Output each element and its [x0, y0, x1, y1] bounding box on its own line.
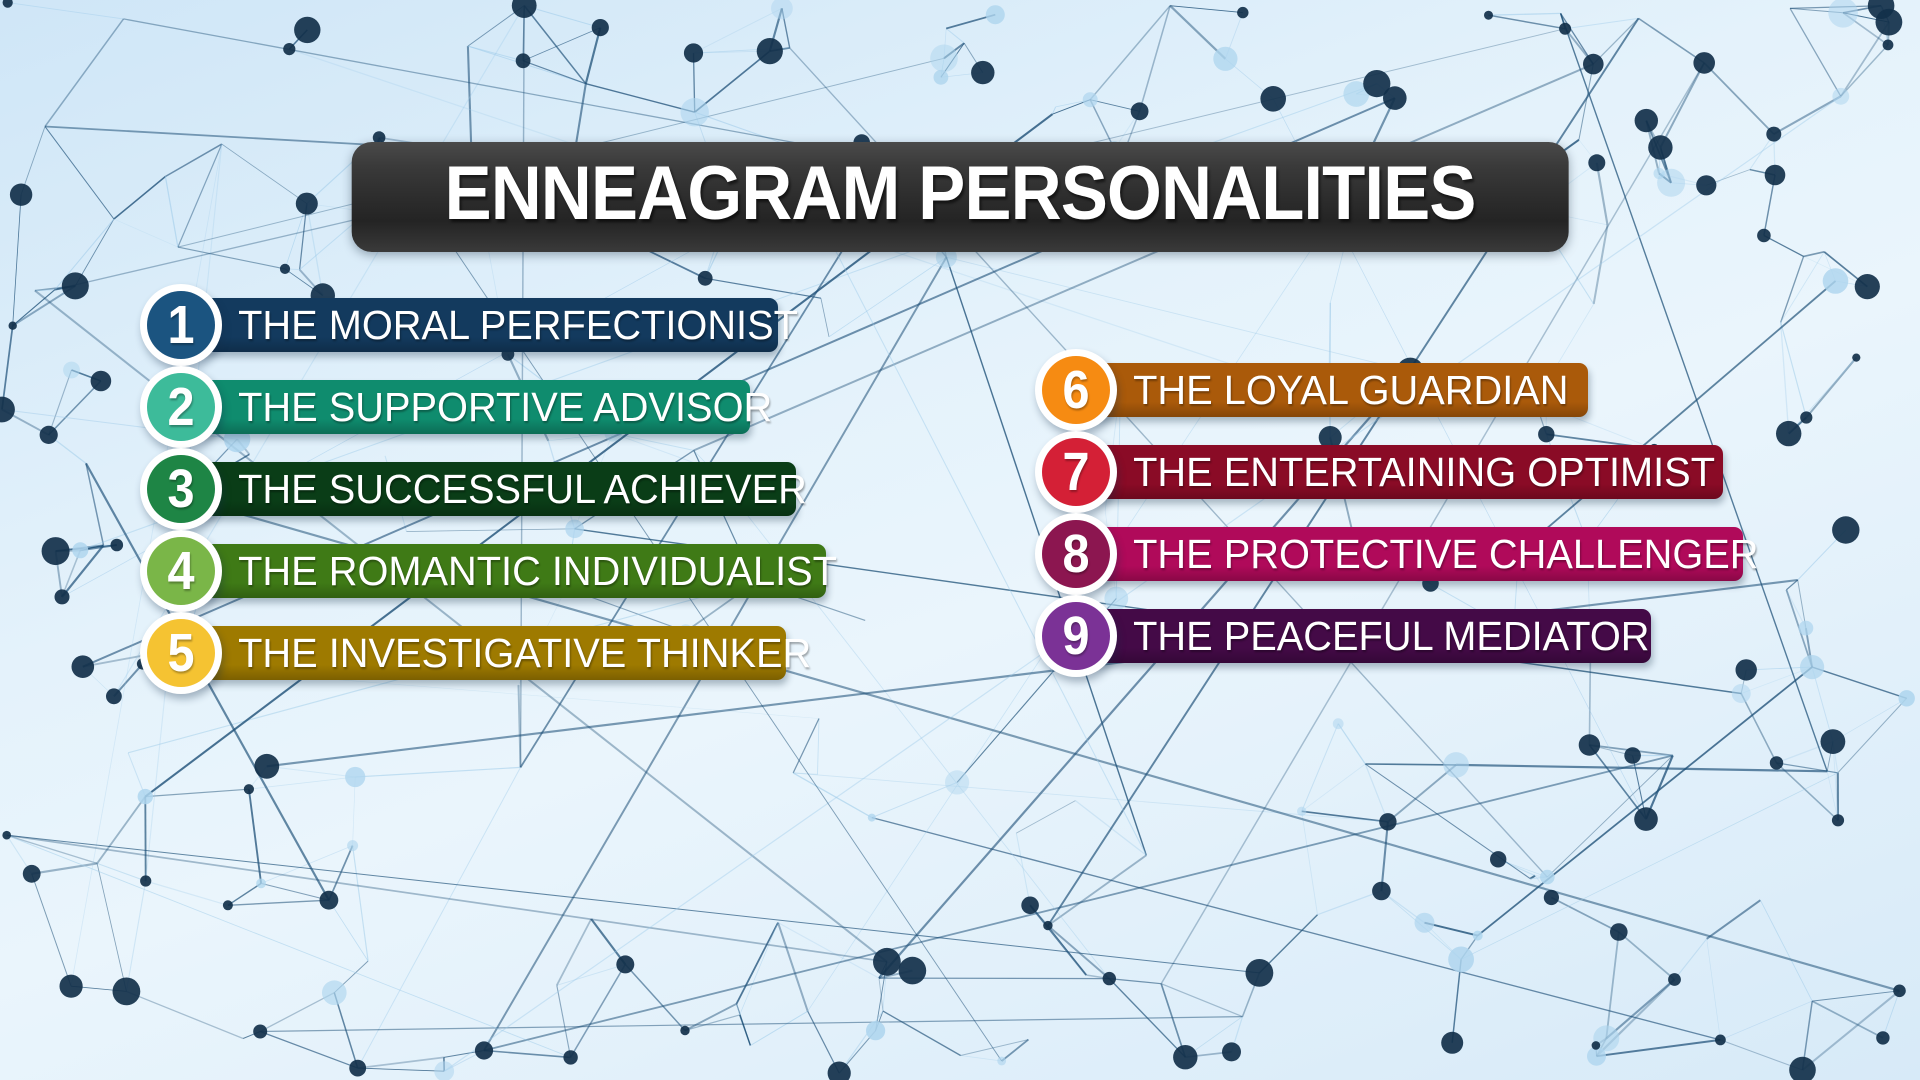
badge-disc: 4	[147, 537, 215, 605]
type-label-text: THE ENTERTAINING OPTIMIST	[1073, 452, 1731, 493]
type-label-bar: THE SUPPORTIVE ADVISOR	[178, 380, 750, 434]
infographic-canvas: ENNEAGRAM PERSONALITIES THE MORAL PERFEC…	[0, 0, 1920, 1080]
page-title: ENNEAGRAM PERSONALITIES	[444, 156, 1475, 232]
type-label-bar: THE PEACEFUL MEDIATOR	[1073, 609, 1651, 663]
type-number-badge[interactable]: 7	[1035, 431, 1117, 513]
type-number-badge[interactable]: 5	[140, 612, 222, 694]
type-number-badge[interactable]: 4	[140, 530, 222, 612]
type-label-bar: THE LOYAL GUARDIAN	[1073, 363, 1588, 417]
type-number: 6	[1062, 363, 1089, 417]
type-number-badge[interactable]: 2	[140, 366, 222, 448]
title-plate: ENNEAGRAM PERSONALITIES	[352, 142, 1569, 252]
badge-disc: 2	[147, 373, 215, 441]
type-label-bar: THE MORAL PERFECTIONIST	[178, 298, 778, 352]
type-number: 8	[1062, 527, 1089, 581]
type-label-text: THE ROMANTIC INDIVIDUALIST	[178, 551, 852, 592]
badge-disc: 3	[147, 455, 215, 523]
type-number: 4	[167, 544, 194, 598]
type-number: 3	[167, 462, 194, 516]
type-label-text: THE LOYAL GUARDIAN	[1073, 370, 1584, 411]
badge-disc: 5	[147, 619, 215, 687]
type-label-text: THE MORAL PERFECTIONIST	[178, 305, 813, 346]
type-number-badge[interactable]: 6	[1035, 349, 1117, 431]
type-number-badge[interactable]: 1	[140, 284, 222, 366]
type-label-text: THE INVESTIGATIVE THINKER	[178, 633, 827, 674]
type-number: 9	[1062, 609, 1089, 663]
title-banner: ENNEAGRAM PERSONALITIES	[352, 142, 1569, 252]
type-number: 1	[167, 298, 194, 352]
badge-disc: 1	[147, 291, 215, 359]
type-number: 5	[167, 626, 194, 680]
type-label-bar: THE INVESTIGATIVE THINKER	[178, 626, 786, 680]
badge-disc: 9	[1042, 602, 1110, 670]
type-label-text: THE PEACEFUL MEDIATOR	[1073, 616, 1665, 657]
type-label-bar: THE SUCCESSFUL ACHIEVER	[178, 462, 796, 516]
type-number: 2	[167, 380, 194, 434]
badge-disc: 8	[1042, 520, 1110, 588]
type-number-badge[interactable]: 8	[1035, 513, 1117, 595]
badge-disc: 6	[1042, 356, 1110, 424]
type-label-text: THE SUPPORTIVE ADVISOR	[178, 387, 788, 428]
type-number: 7	[1062, 445, 1089, 499]
type-number-badge[interactable]: 9	[1035, 595, 1117, 677]
type-label-bar: THE PROTECTIVE CHALLENGER	[1073, 527, 1743, 581]
type-label-bar: THE ENTERTAINING OPTIMIST	[1073, 445, 1723, 499]
type-number-badge[interactable]: 3	[140, 448, 222, 530]
badge-disc: 7	[1042, 438, 1110, 506]
type-label-bar: THE ROMANTIC INDIVIDUALIST	[178, 544, 826, 598]
type-label-text: THE PROTECTIVE CHALLENGER	[1073, 534, 1774, 575]
type-label-text: THE SUCCESSFUL ACHIEVER	[178, 469, 822, 510]
